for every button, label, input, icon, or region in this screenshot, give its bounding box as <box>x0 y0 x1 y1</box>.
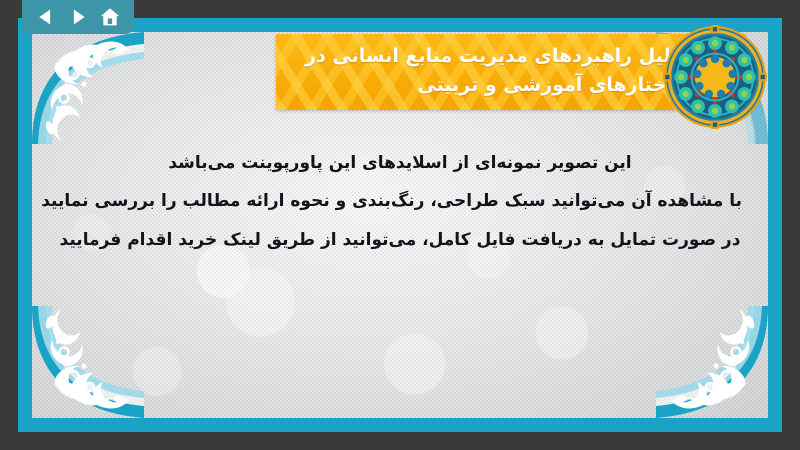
triangle-right-icon <box>74 10 85 25</box>
slide-viewer: تحلیل راهبردهای مدیریت منابع انسانی در س… <box>0 0 800 450</box>
back-button[interactable] <box>33 4 59 30</box>
triangle-left-icon <box>39 10 50 25</box>
slide-canvas: تحلیل راهبردهای مدیریت منابع انسانی در س… <box>18 18 782 432</box>
body-line-2: با مشاهده آن می‌توانید سبک طراحی، رنگ‌بن… <box>58 182 742 220</box>
slide-title-line-2: ساختارهای آموزشی و تربیتی <box>417 71 692 100</box>
body-line-1: این تصویر نمونه‌ای از اسلایدهای این پاور… <box>58 144 742 182</box>
slide-body-text: این تصویر نمونه‌ای از اسلایدهای این پاور… <box>58 144 742 259</box>
forward-button[interactable] <box>65 4 91 30</box>
persian-medallion-icon <box>662 24 768 130</box>
body-line-3: در صورت تمایل به دریافت فایل کامل، می‌تو… <box>58 221 742 259</box>
slide-title-line-1: تحلیل راهبردهای مدیریت منابع انسانی در <box>305 42 692 71</box>
home-icon <box>99 6 121 28</box>
home-button[interactable] <box>97 4 123 30</box>
navigation-bar <box>22 0 134 34</box>
